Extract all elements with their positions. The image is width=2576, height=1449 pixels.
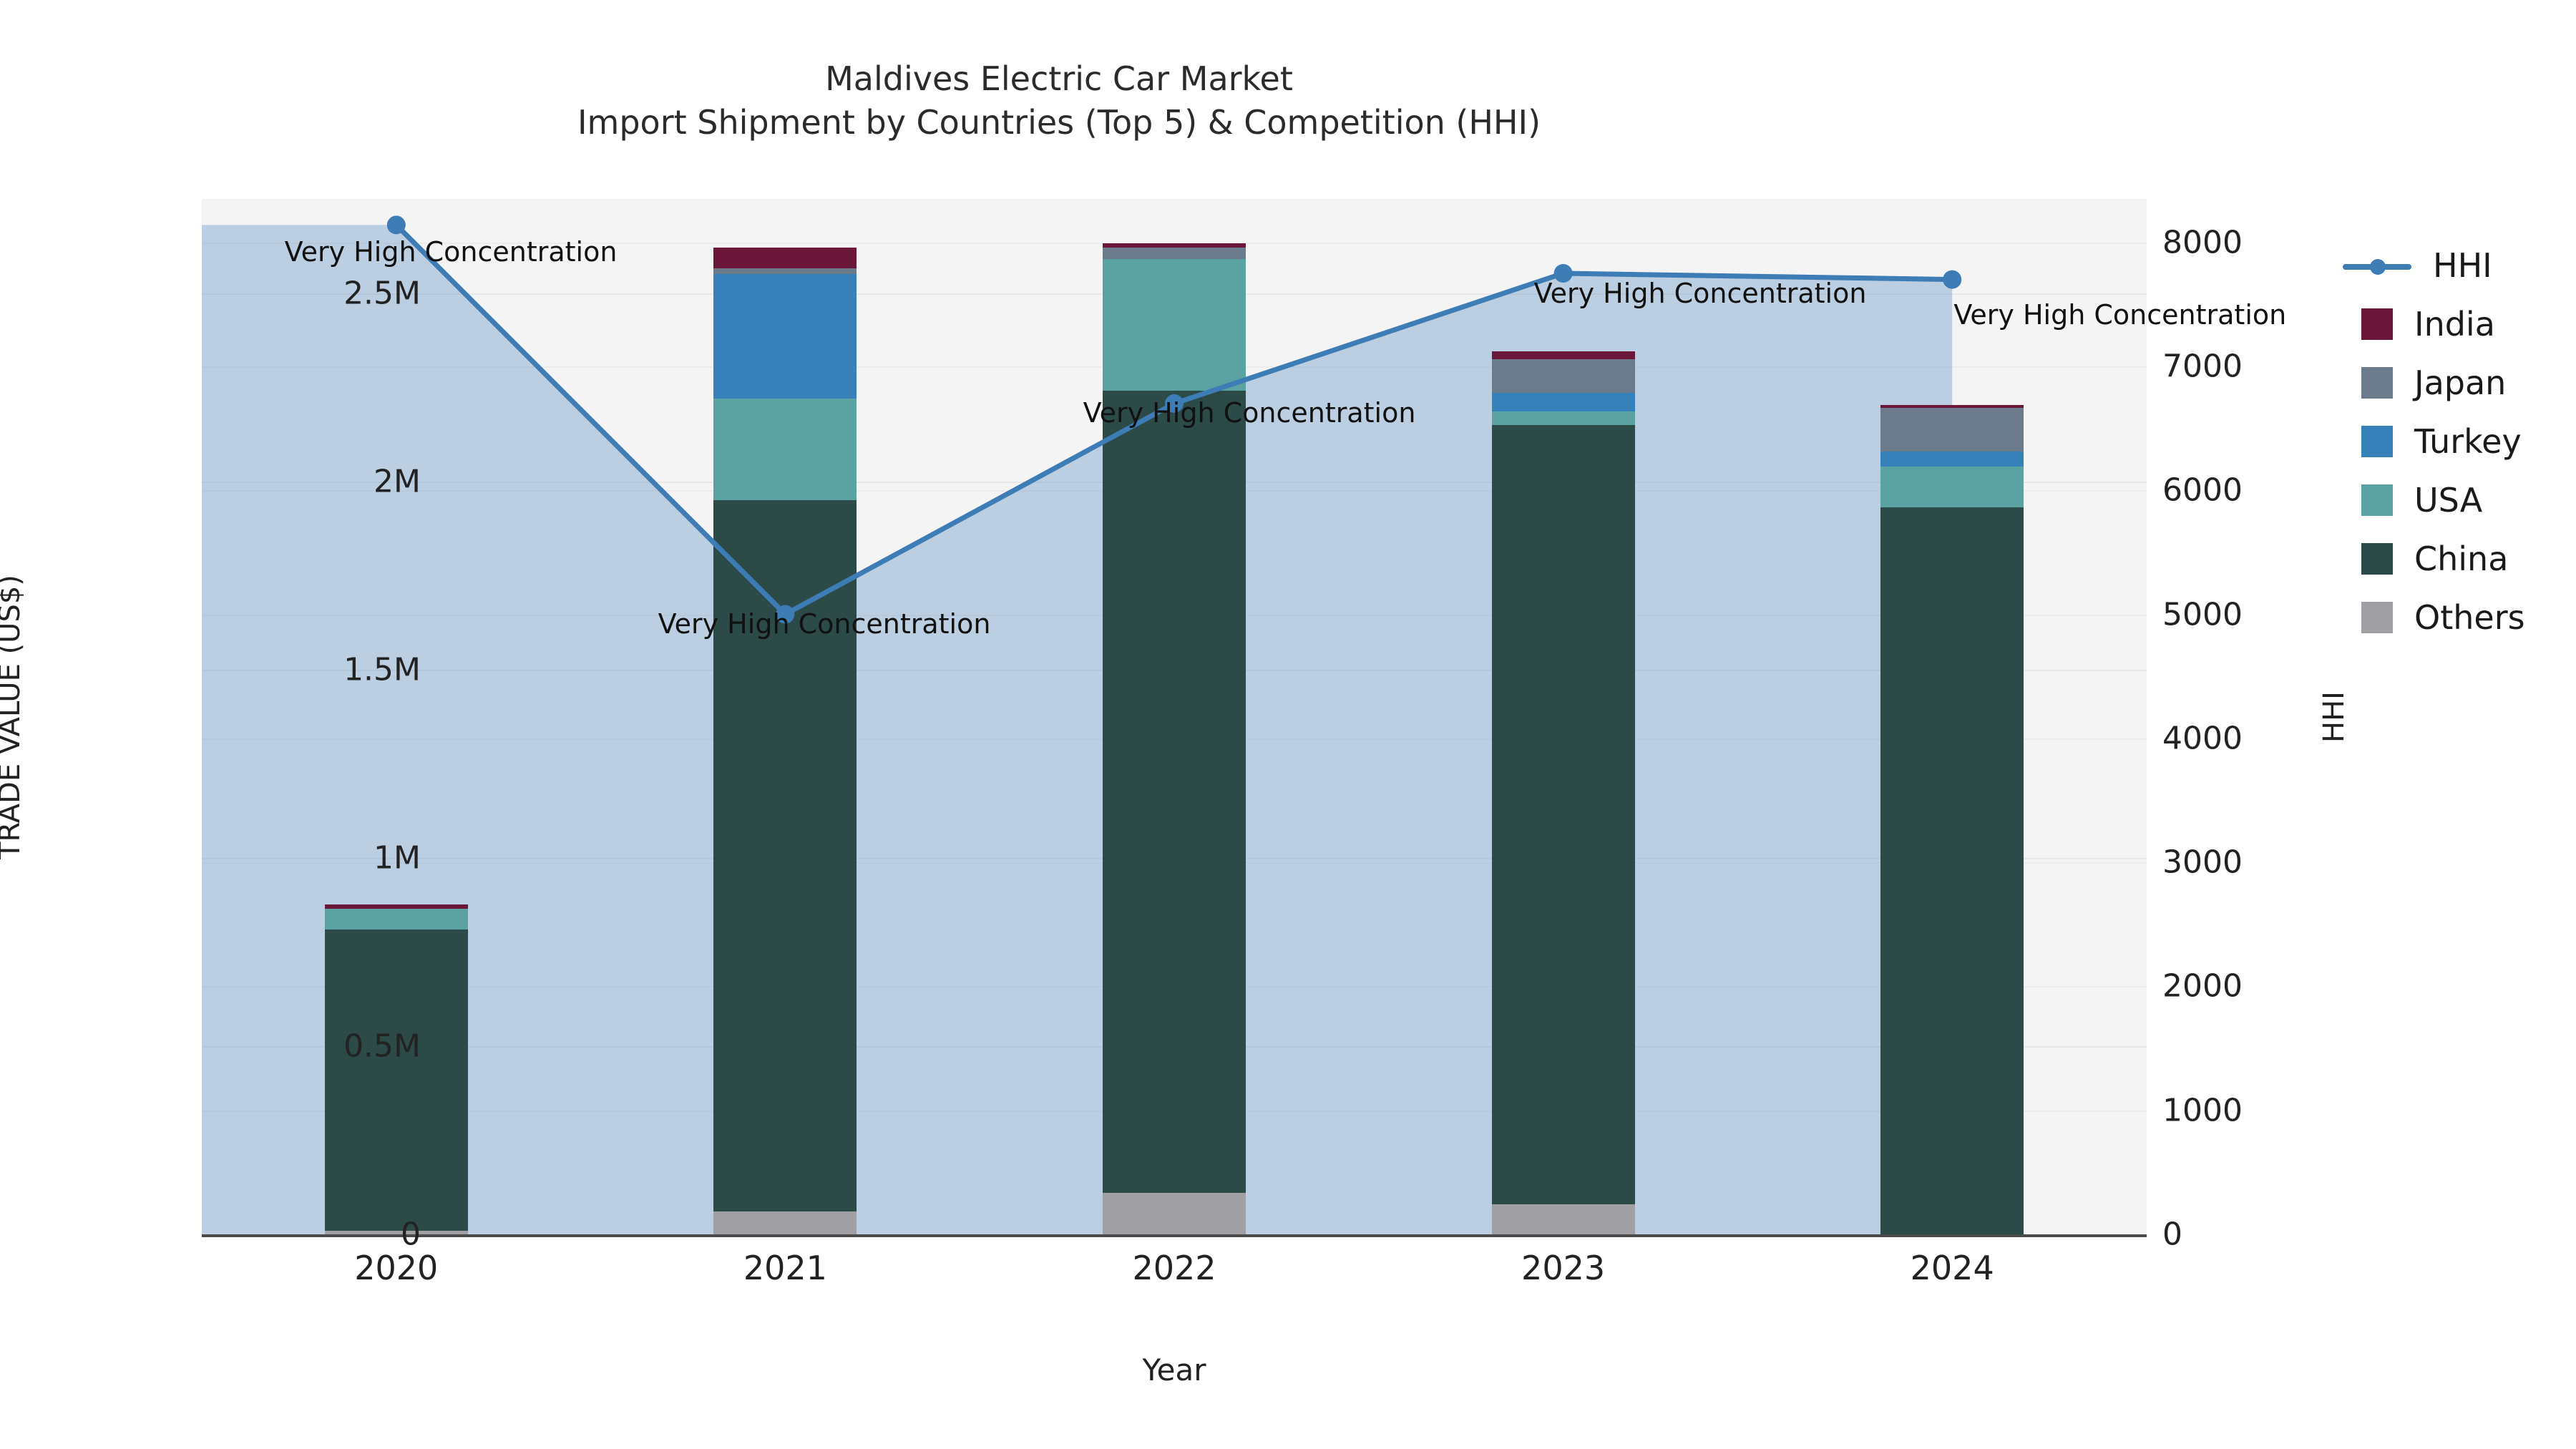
x-tick-label-2024: 2024 — [1845, 1249, 2059, 1287]
bar-group[interactable] — [1103, 243, 1246, 1234]
legend-swatch-china — [2361, 543, 2393, 575]
bar-segment-usa[interactable] — [713, 399, 857, 500]
legend-swatch-turkey — [2361, 426, 2393, 457]
plot-area — [202, 199, 2147, 1234]
y-tick-right-label: 2000 — [2162, 968, 2243, 1005]
x-axis-label: Year — [1143, 1352, 1206, 1387]
chart-title: Maldives Electric Car Market Import Ship… — [0, 57, 2118, 144]
bar-segment-japan[interactable] — [1103, 248, 1246, 259]
bar-segment-others[interactable] — [1492, 1204, 1635, 1234]
bar-segment-china[interactable] — [1880, 507, 2024, 1234]
hhi-data-point[interactable] — [387, 215, 406, 234]
bar-segment-turkey[interactable] — [1492, 393, 1635, 411]
bar-segment-turkey[interactable] — [1880, 452, 2024, 467]
x-tick-label-2020: 2020 — [289, 1249, 504, 1287]
y-tick-right-label: 6000 — [2162, 472, 2243, 509]
legend-item-turkey[interactable]: Turkey — [2361, 412, 2576, 471]
y-tick-left-label: 1.5M — [343, 651, 421, 688]
annotation-concentration-2024: Very High Concentration — [1953, 299, 2286, 331]
bar-segment-japan[interactable] — [1880, 408, 2024, 452]
legend-swatch-japan — [2361, 367, 2393, 399]
annotation-concentration-2023: Very High Concentration — [1534, 278, 1867, 309]
hhi-data-point[interactable] — [1943, 270, 1961, 289]
y-axis-left-label: TRADE VALUE (US$) — [0, 575, 26, 859]
annotation-concentration-2021: Very High Concentration — [658, 608, 991, 640]
legend-item-usa[interactable]: USA — [2361, 471, 2576, 530]
bar-segment-india[interactable] — [713, 248, 857, 268]
y-axis-right-label: HHI — [2318, 691, 2351, 743]
y-tick-right-label: 3000 — [2162, 844, 2243, 881]
bar-segment-others[interactable] — [713, 1211, 857, 1234]
bar-segment-usa[interactable] — [1880, 467, 2024, 508]
legend-label: Turkey — [2414, 422, 2522, 461]
legend-swatch-india — [2361, 308, 2393, 340]
x-tick-label-2022: 2022 — [1067, 1249, 1282, 1287]
bar-group[interactable] — [1880, 405, 2024, 1234]
chart-title-line-1: Maldives Electric Car Market — [0, 57, 2118, 101]
bar-segment-turkey[interactable] — [713, 274, 857, 399]
bar-segment-usa[interactable] — [325, 909, 468, 930]
legend-line-icon — [2343, 250, 2411, 281]
bar-segment-japan[interactable] — [713, 268, 857, 274]
y-tick-right-label: 4000 — [2162, 720, 2243, 756]
legend-swatch-usa — [2361, 484, 2393, 516]
y-tick-right-label: 1000 — [2162, 1092, 2243, 1128]
y-tick-right-label: 8000 — [2162, 224, 2243, 260]
bar-segment-usa[interactable] — [1492, 411, 1635, 424]
bar-segment-others[interactable] — [1103, 1193, 1246, 1234]
y-tick-left-label: 0 — [401, 1216, 421, 1253]
annotation-concentration-2020: Very High Concentration — [285, 236, 618, 268]
legend: HHIIndiaJapanTurkeyUSAChinaOthers — [2361, 236, 2576, 647]
legend-label: India — [2414, 305, 2495, 343]
bar-segment-china[interactable] — [1492, 425, 1635, 1204]
x-tick-label-2023: 2023 — [1456, 1249, 1671, 1287]
bar-segment-india[interactable] — [1492, 351, 1635, 359]
y-tick-right-label: 5000 — [2162, 596, 2243, 633]
y-tick-left-label: 1M — [374, 839, 421, 876]
bar-segment-japan[interactable] — [1492, 359, 1635, 393]
legend-swatch-others — [2361, 602, 2393, 633]
bar-segment-usa[interactable] — [1103, 259, 1246, 391]
legend-item-china[interactable]: China — [2361, 530, 2576, 588]
bar-group[interactable] — [713, 248, 857, 1234]
x-tick-label-2021: 2021 — [678, 1249, 892, 1287]
legend-item-india[interactable]: India — [2361, 295, 2576, 353]
y-tick-right-label: 7000 — [2162, 348, 2243, 384]
legend-label: China — [2414, 540, 2508, 578]
chart-title-line-2: Import Shipment by Countries (Top 5) & C… — [0, 101, 2118, 145]
legend-label: USA — [2414, 481, 2482, 519]
y-tick-left-label: 2.5M — [343, 275, 421, 311]
bar-segment-china[interactable] — [1103, 391, 1246, 1193]
y-tick-right-label: 0 — [2162, 1216, 2182, 1253]
y-tick-left-label: 0.5M — [343, 1028, 421, 1064]
legend-item-japan[interactable]: Japan — [2361, 353, 2576, 412]
bar-segment-china[interactable] — [713, 500, 857, 1211]
legend-item-hhi[interactable]: HHI — [2361, 236, 2576, 295]
bar-segment-china[interactable] — [325, 930, 468, 1231]
legend-label: Others — [2414, 598, 2525, 637]
legend-item-others[interactable]: Others — [2361, 588, 2576, 647]
y-tick-left-label: 2M — [374, 463, 421, 499]
bar-group[interactable] — [325, 904, 468, 1234]
legend-label: HHI — [2433, 246, 2492, 285]
x-axis-spine — [202, 1234, 2147, 1237]
annotation-concentration-2022: Very High Concentration — [1083, 397, 1416, 429]
bar-group[interactable] — [1492, 351, 1635, 1234]
legend-label: Japan — [2414, 364, 2506, 402]
